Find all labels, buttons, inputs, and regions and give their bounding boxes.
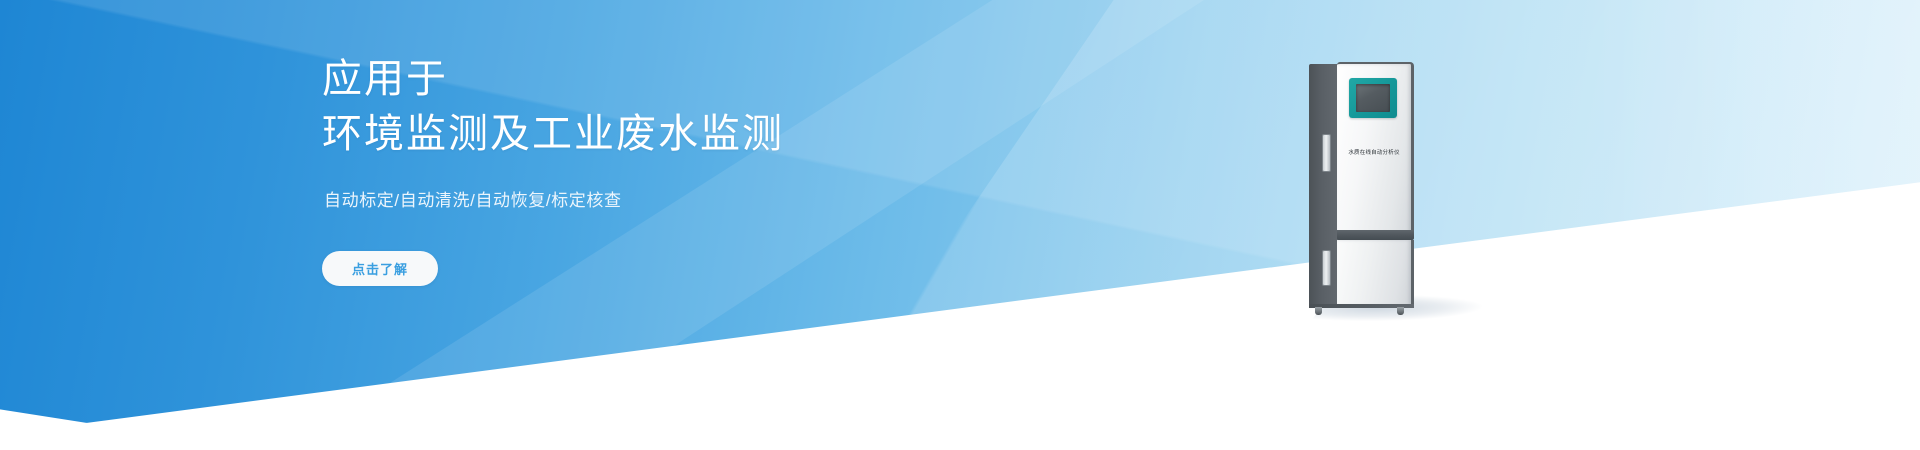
banner-headline: 应用于 环境监测及工业废水监测 (322, 52, 784, 162)
cabinet-handle-upper-icon (1322, 134, 1331, 172)
learn-more-button[interactable]: 点击了解 (322, 251, 438, 286)
cabinet-side-panel (1309, 64, 1339, 307)
cabinet-upper-door: 水质在线自动分析仪 (1337, 62, 1414, 236)
banner-text-block: 应用于 环境监测及工业废水监测 自动标定/自动清洗/自动恢复/标定核查 (322, 0, 1082, 450)
headline-line-1: 应用于 (322, 52, 784, 107)
promo-banner: 水质在线自动分析仪 应用于 环境监测及工业废水监测 自动标定/自动清洗/自动恢复… (0, 0, 1920, 450)
cabinet-divider (1337, 230, 1414, 240)
cabinet-handle-lower-icon (1322, 250, 1331, 286)
device-model-label: 水质在线自动分析仪 (1344, 147, 1405, 155)
cabinet-lower-door (1337, 240, 1414, 308)
banner-subtitle: 自动标定/自动清洗/自动恢复/标定核查 (324, 186, 622, 211)
device-screen-bezel (1349, 78, 1397, 118)
product-image-analyzer: 水质在线自动分析仪 (1309, 62, 1431, 315)
cabinet-caster-right-icon (1397, 307, 1404, 315)
headline-line-2: 环境监测及工业废水监测 (322, 107, 784, 162)
device-screen (1356, 84, 1390, 112)
cabinet-caster-left-icon (1315, 307, 1322, 315)
